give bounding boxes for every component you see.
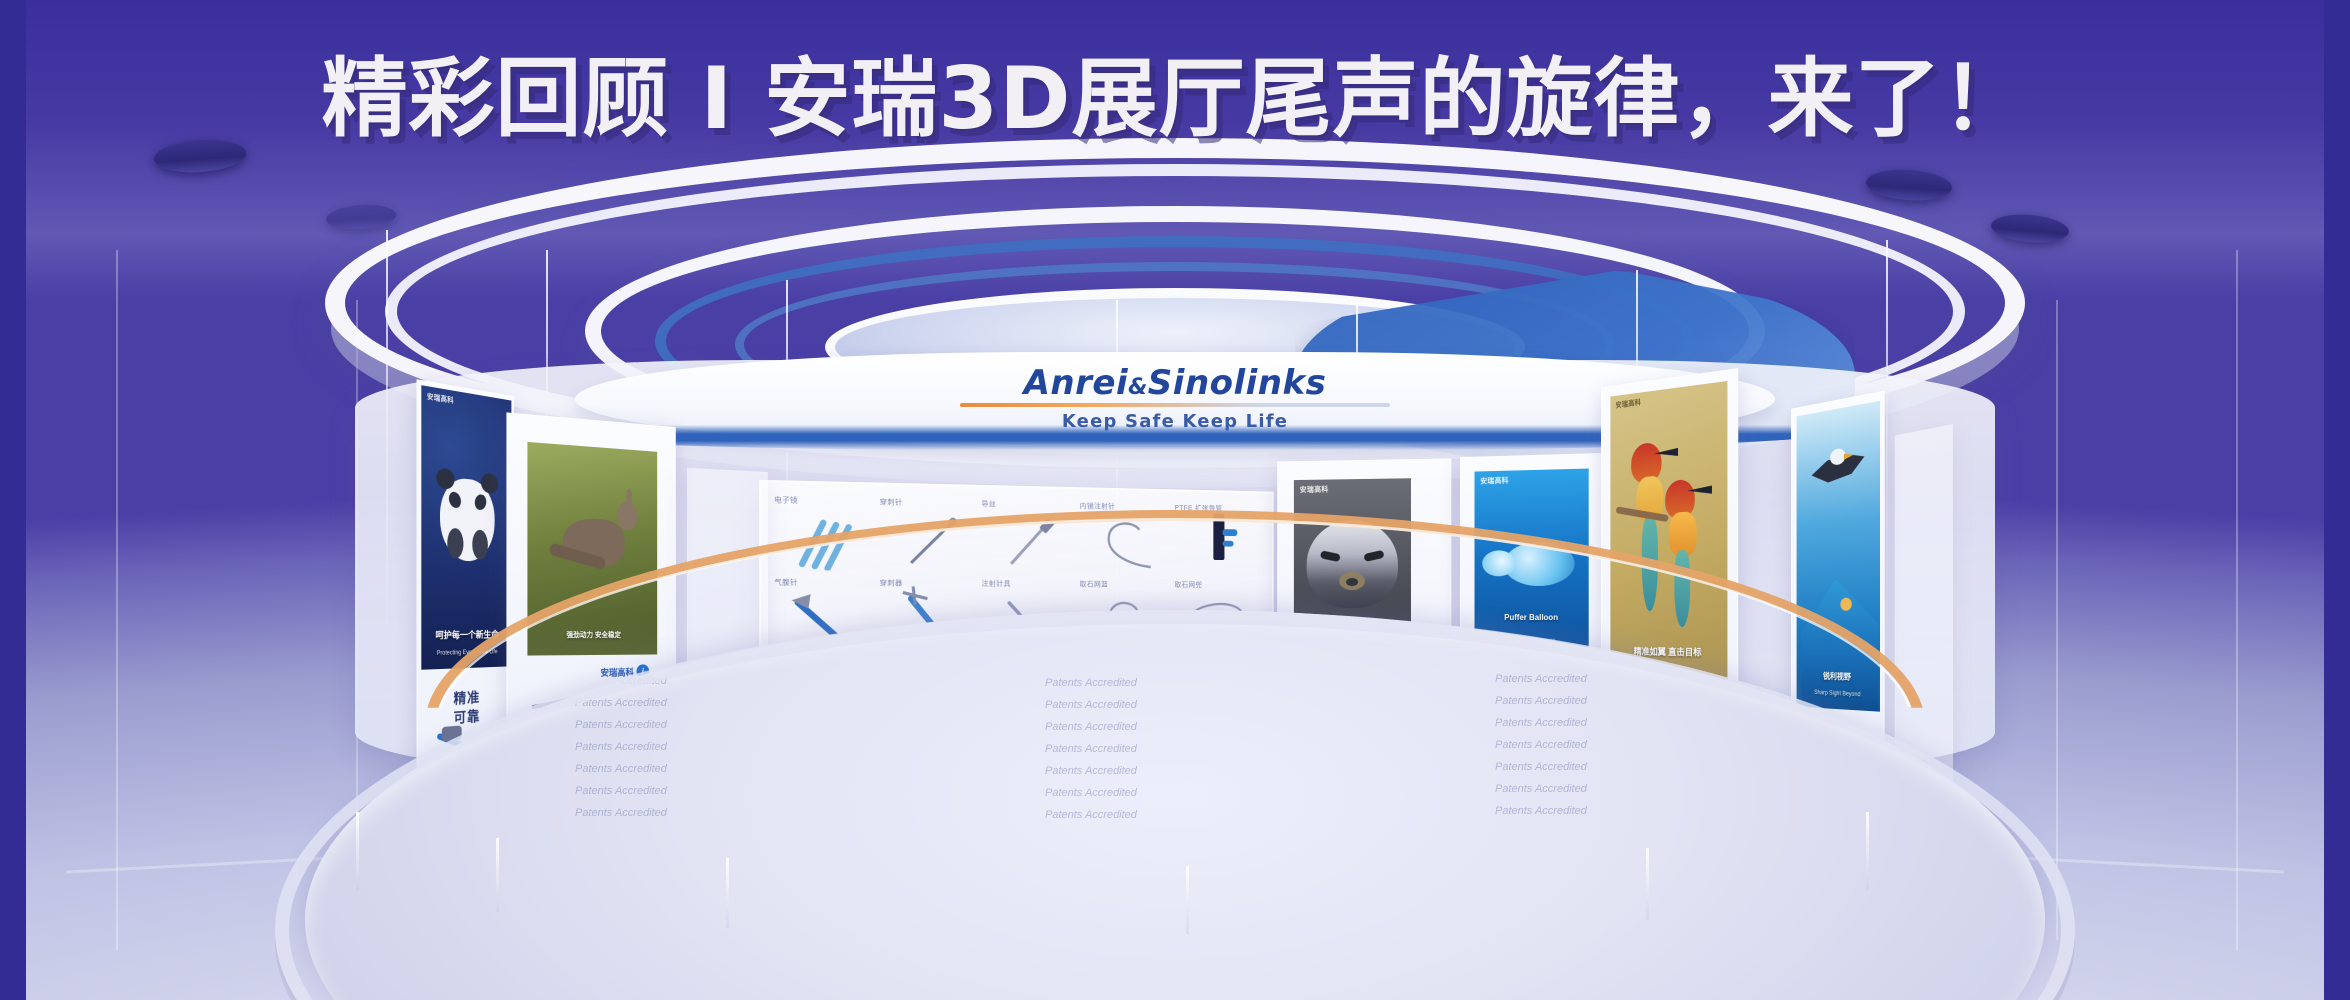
- railing-post: [1866, 812, 1869, 890]
- product-cell-label: 穿刺针: [880, 497, 903, 508]
- railing-post: [356, 812, 359, 890]
- wall-seam: [2236, 250, 2238, 950]
- product-cell-label: 导丝: [981, 499, 996, 509]
- brand-logo: Anrei&Sinolinks: [1024, 366, 1327, 400]
- product-cell-label: 电子镜: [774, 495, 798, 506]
- poster-image-panda: 安瑞高科 呵护每一个新生命 Protecting Every New Life: [421, 385, 511, 670]
- panda-body-icon: [440, 476, 495, 562]
- wall-seam: [2056, 300, 2058, 940]
- exhibition-hall-screenshot: Anrei&Sinolinks Keep Safe Keep Life 安瑞高科…: [0, 0, 2350, 1000]
- poster-brand-label: 安瑞高科: [427, 391, 454, 406]
- poster-brand-label: 安瑞高科: [1616, 397, 1642, 410]
- left-border-strip: [0, 0, 26, 1000]
- railing-post: [1186, 866, 1189, 934]
- railing-post: [1646, 848, 1649, 920]
- poster-brand-label: 安瑞高科: [1300, 485, 1329, 495]
- poster-brand-label: 安瑞高科: [1480, 476, 1508, 487]
- brand-logo-sinolinks: Sinolinks: [1148, 363, 1327, 403]
- brand-logo-amp: &: [1128, 375, 1148, 400]
- railing-post: [496, 838, 499, 912]
- page-title: 精彩回顾 I 安瑞3D展厅尾声的旋律，来了！: [0, 28, 2350, 153]
- right-border-strip: [2324, 0, 2350, 1000]
- brand-swoosh-icon: [960, 403, 1390, 407]
- railing-post: [726, 858, 729, 928]
- wall-seam: [116, 250, 118, 950]
- brand-logo-anrei: Anrei: [1024, 363, 1129, 403]
